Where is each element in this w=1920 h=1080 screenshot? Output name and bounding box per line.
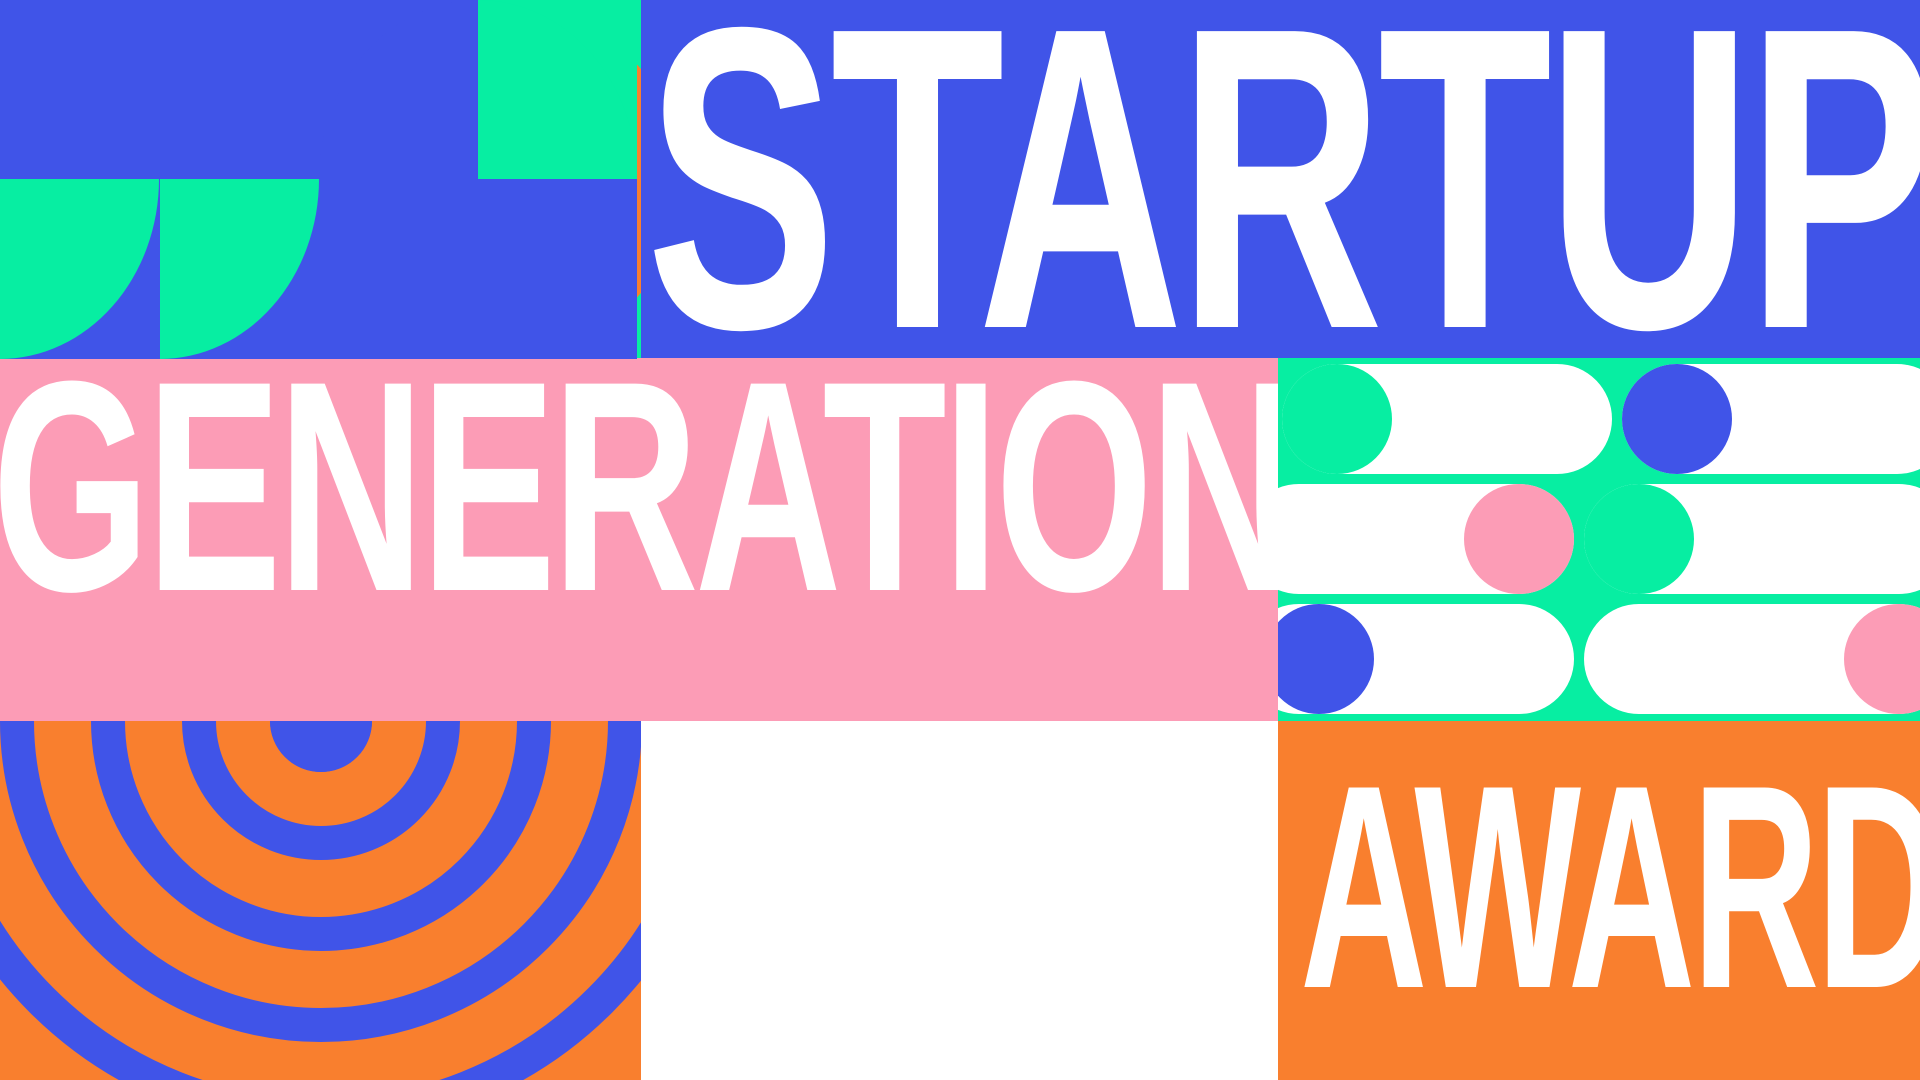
grid-cell-quarters-bottom-left: [0, 179, 319, 359]
logo-line-dealer-day: Dealer Day: [776, 810, 932, 845]
quintegia-wordmark: uintegia: [1071, 975, 1239, 1028]
quarter-circle-pair-lower-icon: [0, 179, 319, 359]
grid-cell-quintegia: [319, 179, 637, 359]
rounded-pill-pattern-icon: [1278, 358, 1920, 721]
concentric-semicircle-icon: [0, 721, 641, 1080]
headline-generation: GENERATION: [0, 336, 1292, 636]
concentric-arcs-panel: [0, 721, 641, 1080]
logo-line-automotive: Automotive: [776, 776, 931, 811]
headline-award: AWARD: [1300, 742, 1920, 1032]
automotive-dealer-day-logo: Automotive Dealer Day: [672, 770, 962, 850]
logo-quarter-grid: [0, 0, 637, 359]
car-swoosh-icon: [674, 784, 772, 834]
quintegia-logo: Q uintegia: [1005, 955, 1240, 1035]
poster-canvas: STARTUP GENERATION: [0, 0, 1920, 1080]
quarter-circle-pair-icon: [319, 0, 637, 179]
grid-cell-dealer-day: [0, 0, 319, 179]
pill-pattern-panel: [1278, 358, 1920, 721]
grid-cell-quarters-top-right: [319, 0, 637, 179]
